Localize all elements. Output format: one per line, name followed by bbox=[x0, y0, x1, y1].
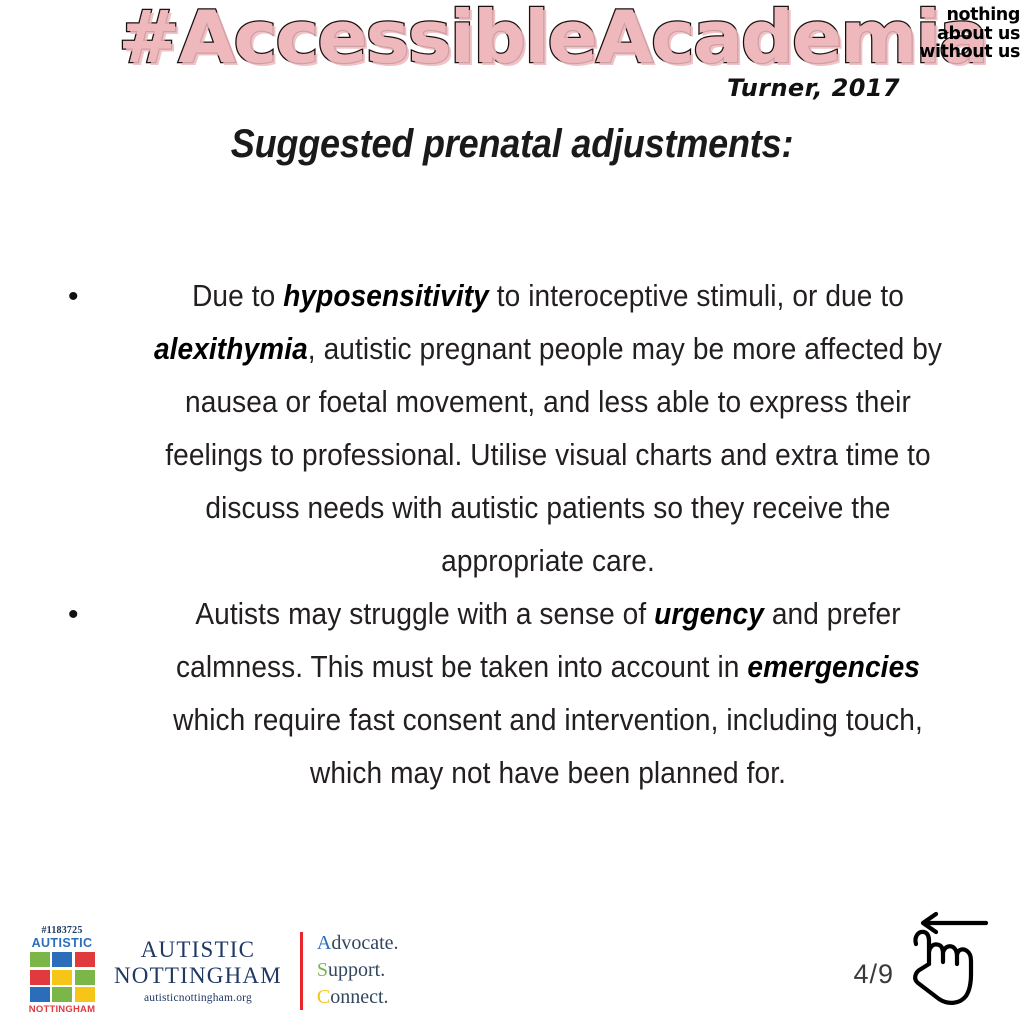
grid-square-3 bbox=[75, 952, 95, 967]
list-item: • Due to hyposensitivity to interoceptiv… bbox=[60, 270, 990, 588]
slogan-cap-c: C bbox=[317, 986, 330, 1008]
citation: Turner, 2017 bbox=[727, 74, 900, 102]
bullet-text-2: Autists may struggle with a sense of urg… bbox=[141, 588, 954, 800]
slogan-rest-support: upport. bbox=[328, 959, 385, 981]
wordmark-line-2: NOTTINGHAM bbox=[114, 963, 282, 989]
slogan-line-support: Support. bbox=[317, 957, 399, 984]
text-segment: , autistic pregnant people may be more a… bbox=[165, 332, 942, 578]
slogan-line-advocate: Advocate. bbox=[317, 930, 399, 957]
slogan-rest-advocate: dvocate. bbox=[331, 932, 398, 954]
grid-square-7 bbox=[30, 987, 50, 1002]
wordmark-line-1: AUTISTIC bbox=[114, 937, 282, 963]
hashtag-text: #AccessibleAcademia bbox=[118, 0, 932, 76]
slogan-cap-s: S bbox=[317, 959, 328, 981]
bullet-marker: • bbox=[60, 270, 106, 323]
logo-mark: #1183725 AUTISTIC NOTTINGHAM bbox=[26, 925, 98, 1016]
text-segment: Autists may struggle with a sense of bbox=[195, 597, 654, 631]
logo-divider bbox=[300, 932, 303, 1010]
tagline-line-2: about us bbox=[919, 25, 1020, 44]
emphasis-hyposensitivity: hyposensitivity bbox=[283, 279, 489, 313]
bullet-text-1: Due to hyposensitivity to interoceptive … bbox=[141, 270, 954, 588]
slide-body: • Due to hyposensitivity to interoceptiv… bbox=[60, 270, 990, 800]
logo-mark-bottom-word: NOTTINGHAM bbox=[29, 1004, 95, 1016]
emphasis-emergencies: emergencies bbox=[747, 650, 920, 684]
slogan-rest-connect: onnect. bbox=[330, 986, 388, 1008]
text-segment: Due to bbox=[192, 279, 283, 313]
grid-square-6 bbox=[75, 970, 95, 985]
emphasis-alexithymia: alexithymia bbox=[154, 332, 308, 366]
grid-square-8 bbox=[52, 987, 72, 1002]
grid-square-4 bbox=[30, 970, 50, 985]
swipe-left-hand-icon[interactable] bbox=[894, 910, 1002, 1010]
tagline: nothing about us without us bbox=[919, 6, 1020, 62]
slogan-line-connect: Connect. bbox=[317, 984, 399, 1011]
website-url[interactable]: autisticnottingham.org bbox=[114, 992, 282, 1004]
autistic-nottingham-logo[interactable]: #1183725 AUTISTIC NOTTINGHAM AUTISTIC NO… bbox=[26, 925, 399, 1016]
hashtag-logo: #AccessibleAcademia bbox=[118, 0, 908, 78]
slide-title: Suggested prenatal adjustments: bbox=[51, 122, 973, 167]
logo-wordmark: AUTISTIC NOTTINGHAM autisticnottingham.o… bbox=[114, 937, 282, 1004]
logo-color-grid bbox=[30, 952, 95, 1002]
bullet-marker: • bbox=[60, 588, 106, 641]
grid-square-1 bbox=[30, 952, 50, 967]
page-indicator: 4/9 bbox=[853, 959, 894, 990]
footer: #1183725 AUTISTIC NOTTINGHAM AUTISTIC NO… bbox=[0, 904, 1024, 1024]
slogan-cap-a: A bbox=[317, 932, 331, 954]
emphasis-urgency: urgency bbox=[654, 597, 764, 631]
list-item: • Autists may struggle with a sense of u… bbox=[60, 588, 990, 800]
logo-slogan: Advocate. Support. Connect. bbox=[317, 930, 399, 1011]
tagline-line-3: without us bbox=[919, 43, 1020, 62]
grid-square-5 bbox=[52, 970, 72, 985]
text-segment: which require fast consent and intervent… bbox=[173, 703, 923, 790]
grid-square-2 bbox=[52, 952, 72, 967]
logo-mark-top-word: AUTISTIC bbox=[32, 936, 93, 950]
text-segment: to interoceptive stimuli, or due to bbox=[489, 279, 904, 313]
charity-registration-number: #1183725 bbox=[41, 925, 82, 936]
grid-square-9 bbox=[75, 987, 95, 1002]
tagline-line-1: nothing bbox=[919, 6, 1020, 25]
header-banner: #AccessibleAcademia nothing about us wit… bbox=[0, 0, 1024, 112]
